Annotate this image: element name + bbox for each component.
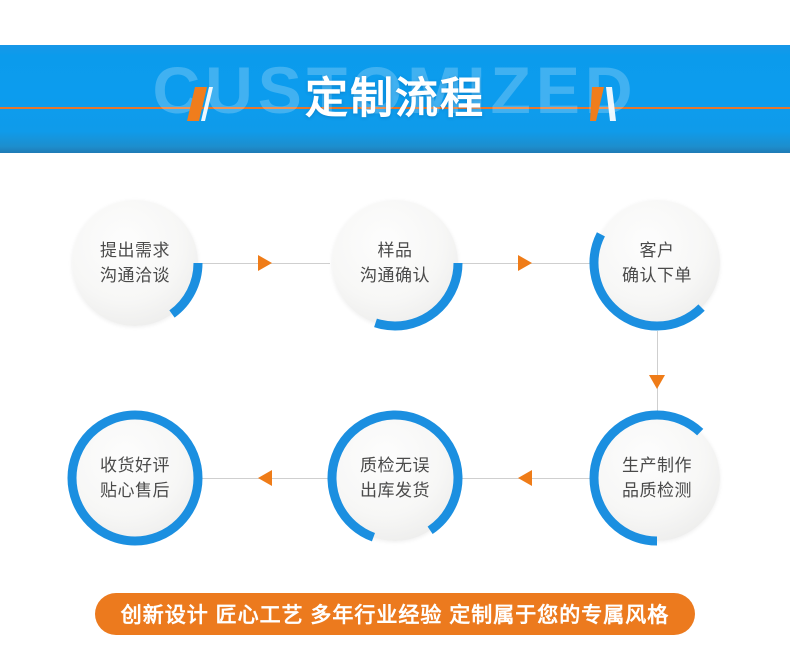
flow-step-5[interactable]: 质检无误 出库发货 [332, 415, 458, 541]
page-header-banner: CUSTOMIZED 定制流程 [0, 45, 790, 153]
flow-step-2-line2: 沟通确认 [360, 263, 430, 288]
flow-step-2-label: 样品 沟通确认 [332, 200, 458, 326]
flow-step-4-line1: 生产制作 [622, 453, 692, 478]
flow-step-4-label: 生产制作 品质检测 [594, 415, 720, 541]
connector-step2-step3-arrow-icon [518, 255, 532, 271]
flow-step-2[interactable]: 样品 沟通确认 [332, 200, 458, 326]
footer-slogan-text: 创新设计 匠心工艺 多年行业经验 定制属于您的专属风格 [121, 599, 670, 629]
flow-step-2-line1: 样品 [378, 238, 413, 263]
flow-step-3[interactable]: 客户 确认下单 [594, 200, 720, 326]
flow-step-3-label: 客户 确认下单 [594, 200, 720, 326]
flow-step-1[interactable]: 提出需求 沟通洽谈 [72, 200, 198, 326]
connector-step4-step5-arrow-icon [518, 470, 532, 486]
flow-step-3-line2: 确认下单 [622, 263, 692, 288]
flow-step-6-line2: 贴心售后 [100, 478, 170, 503]
flow-step-1-line2: 沟通洽谈 [100, 263, 170, 288]
flow-step-5-label: 质检无误 出库发货 [332, 415, 458, 541]
flow-step-5-line2: 出库发货 [360, 478, 430, 503]
flow-step-6[interactable]: 收货好评 贴心售后 [72, 415, 198, 541]
flow-step-6-line1: 收货好评 [100, 453, 170, 478]
flow-step-4[interactable]: 生产制作 品质检测 [594, 415, 720, 541]
flow-step-4-line2: 品质检测 [622, 478, 692, 503]
connector-step1-step2-arrow-icon [258, 255, 272, 271]
flow-step-6-label: 收货好评 贴心售后 [72, 415, 198, 541]
flow-step-1-label: 提出需求 沟通洽谈 [72, 200, 198, 326]
customization-flow-diagram: 提出需求 沟通洽谈 样品 沟通确认 客户 确认下单 生产制作 品 [0, 153, 790, 573]
flow-step-3-line1: 客户 [640, 238, 675, 263]
flow-step-5-line1: 质检无误 [360, 453, 430, 478]
connector-step5-step6-arrow-icon [258, 470, 272, 486]
page-title: 定制流程 [0, 72, 790, 126]
flow-step-1-line1: 提出需求 [100, 238, 170, 263]
connector-step3-step4-arrow-icon [649, 375, 665, 389]
footer-slogan-banner: 创新设计 匠心工艺 多年行业经验 定制属于您的专属风格 [95, 593, 695, 635]
